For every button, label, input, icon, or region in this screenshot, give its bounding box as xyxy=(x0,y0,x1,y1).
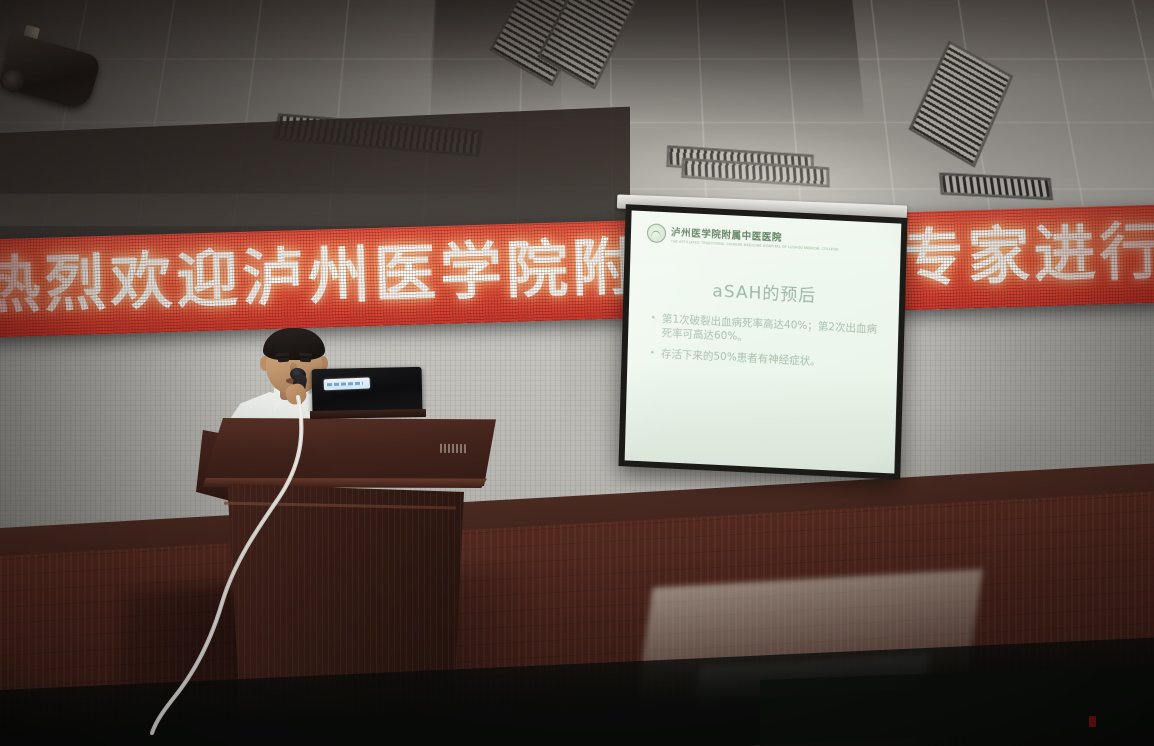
laptop-lid xyxy=(312,367,423,413)
slide-bullet-text: 存活下来的50%患者有神经症状。 xyxy=(661,347,821,369)
slide-surface: 泸州医学院附属中医医院 THE AFFILIATED TRADITIONAL C… xyxy=(625,210,902,473)
slide-body: • 第1次破裂出血病死率高达40%；第2次出血病死率可高达60%。 • 存活下来… xyxy=(649,311,884,378)
lecture-hall-photo: 热烈欢迎泸州医学院附属中医院专家进行学术讲座 泸州医学院附属中医医院 THE A… xyxy=(0,0,1154,746)
slide-bullet: • 第1次破裂出血病死率高达40%；第2次出血病死率可高达60%。 xyxy=(650,311,885,350)
laptop-hinge xyxy=(310,409,426,419)
laptop-icon xyxy=(312,368,422,420)
slide-title: aSAH的预后 xyxy=(629,272,899,310)
ceiling-shadow xyxy=(428,0,865,122)
bullet-marker-icon: • xyxy=(650,311,656,339)
speaker-eye xyxy=(300,358,311,363)
slide-bullet: • 存活下来的50%患者有神经症状。 xyxy=(649,346,883,371)
lectern-top xyxy=(196,418,496,486)
slide-logo: 泸州医学院附属中医医院 THE AFFILIATED TRADITIONAL C… xyxy=(647,223,839,251)
speaker-eye xyxy=(278,358,289,363)
projection-screen: 泸州医学院附属中医医院 THE AFFILIATED TRADITIONAL C… xyxy=(618,204,907,480)
floor-marker xyxy=(1089,716,1096,727)
lectern-nameplate xyxy=(440,444,468,453)
speaker-hair xyxy=(263,328,325,360)
bullet-marker-icon: • xyxy=(649,346,655,360)
hospital-logo-icon xyxy=(647,223,667,243)
slide-bullet-text: 第1次破裂出血病死率高达40%；第2次出血病死率可高达60%。 xyxy=(661,312,884,351)
laptop-sticker xyxy=(324,377,370,390)
